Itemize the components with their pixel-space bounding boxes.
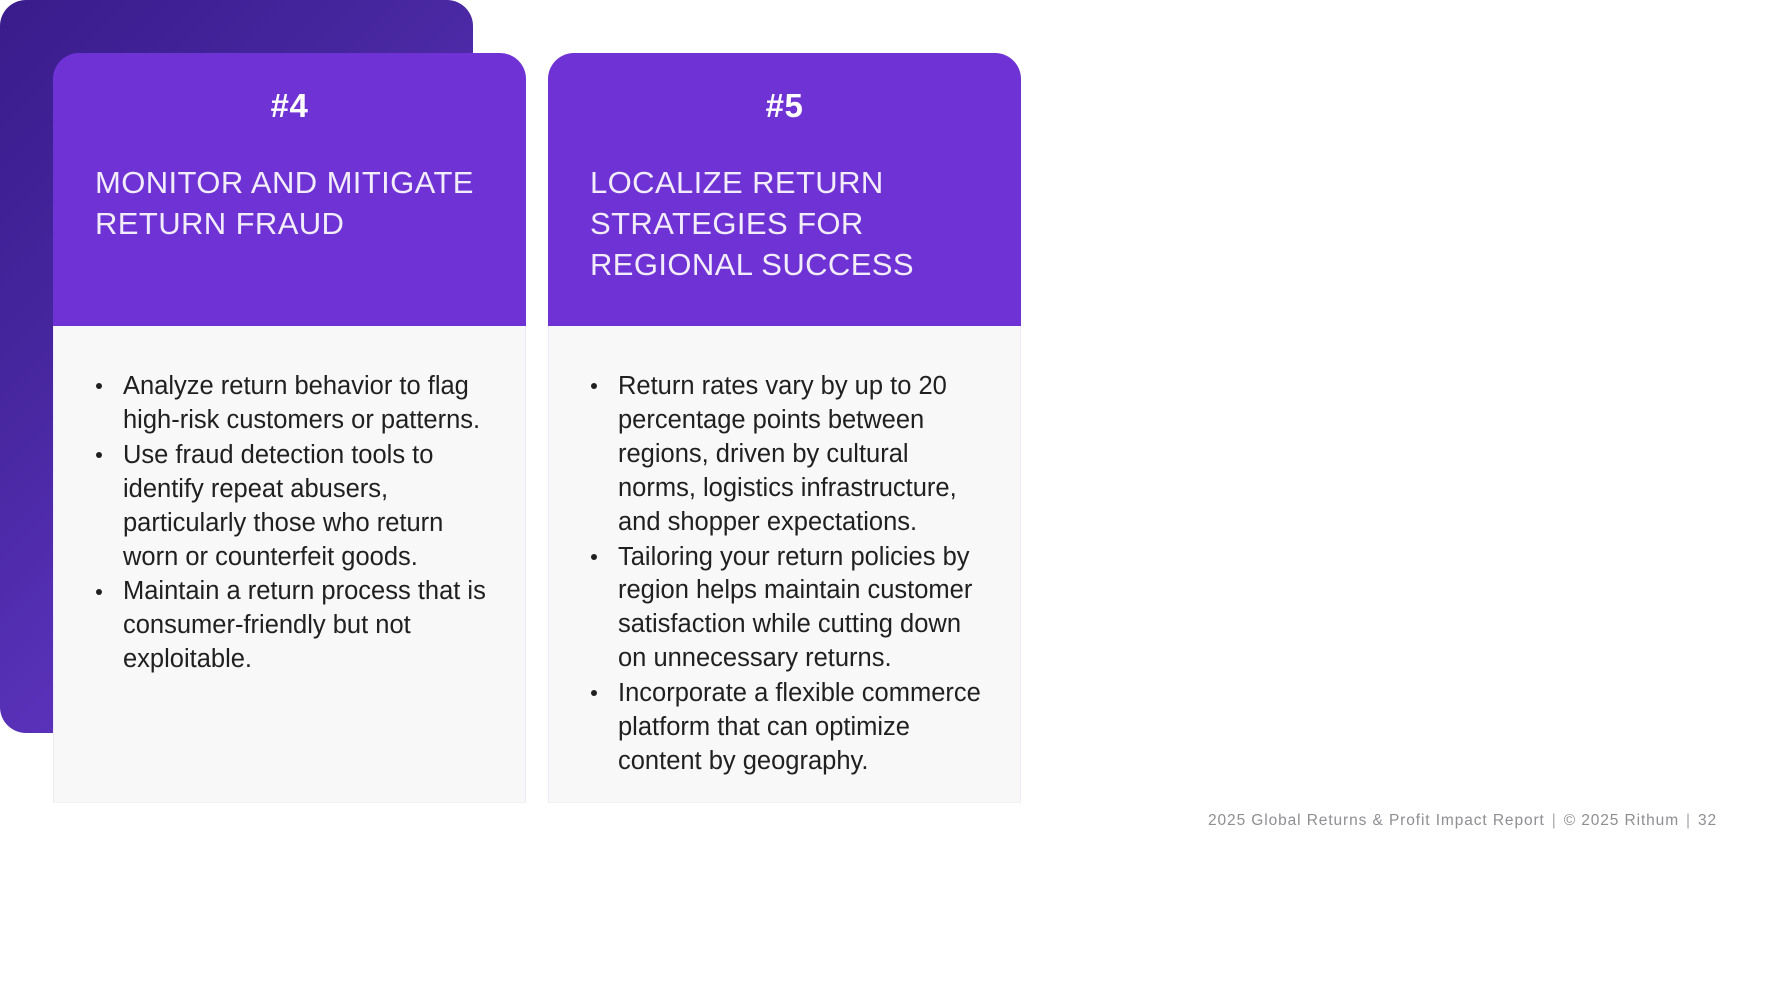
footer-page-number: 32 — [1698, 812, 1717, 829]
list-item: Tailoring your return policies by region… — [583, 541, 986, 677]
footer-separator: | — [1552, 812, 1557, 829]
tip-card-4: #4 MONITOR AND MITIGATE RETURN FRAUD Ana… — [53, 53, 526, 803]
list-item: Use fraud detection tools to identify re… — [88, 439, 491, 575]
footer-copyright: © 2025 Rithum — [1564, 812, 1679, 829]
bullet-text: Return rates vary by up to 20 percentage… — [618, 372, 957, 536]
card-title-4: MONITOR AND MITIGATE RETURN FRAUD — [95, 162, 484, 244]
card-header-4: #4 MONITOR AND MITIGATE RETURN FRAUD — [53, 53, 526, 326]
card-number-5: #5 — [590, 89, 979, 122]
bullet-dot-icon — [591, 383, 597, 389]
card-title-5: LOCALIZE RETURN STRATEGIES FOR REGIONAL … — [590, 162, 979, 286]
bullet-list-5: Return rates vary by up to 20 percentage… — [583, 370, 986, 779]
list-item: Incorporate a flexible commerce platform… — [583, 677, 986, 779]
bullet-text: Use fraud detection tools to identify re… — [123, 441, 443, 571]
slide-root: #4 MONITOR AND MITIGATE RETURN FRAUD Ana… — [0, 0, 1771, 996]
footer-report-title: 2025 Global Returns & Profit Impact Repo… — [1208, 812, 1545, 829]
list-item: Maintain a return process that is consum… — [88, 575, 491, 677]
card-number-4: #4 — [95, 89, 484, 122]
bullet-text: Maintain a return process that is consum… — [123, 577, 486, 673]
bullet-dot-icon — [591, 690, 597, 696]
footer-separator: | — [1686, 812, 1691, 829]
card-header-5: #5 LOCALIZE RETURN STRATEGIES FOR REGION… — [548, 53, 1021, 326]
card-body-5: Return rates vary by up to 20 percentage… — [548, 326, 1021, 803]
bullet-list-4: Analyze return behavior to flag high-ris… — [88, 370, 491, 677]
slide-footer: 2025 Global Returns & Profit Impact Repo… — [1208, 812, 1717, 830]
bullet-dot-icon — [96, 589, 102, 595]
card-body-4: Analyze return behavior to flag high-ris… — [53, 326, 526, 803]
bullet-text: Tailoring your return policies by region… — [618, 543, 972, 673]
tip-card-5: #5 LOCALIZE RETURN STRATEGIES FOR REGION… — [548, 53, 1021, 803]
bullet-dot-icon — [591, 554, 597, 560]
bullet-dot-icon — [96, 452, 102, 458]
bullet-dot-icon — [96, 383, 102, 389]
list-item: Return rates vary by up to 20 percentage… — [583, 370, 986, 540]
bullet-text: Analyze return behavior to flag high-ris… — [123, 372, 480, 434]
bullet-text: Incorporate a flexible commerce platform… — [618, 679, 981, 775]
list-item: Analyze return behavior to flag high-ris… — [88, 370, 491, 438]
